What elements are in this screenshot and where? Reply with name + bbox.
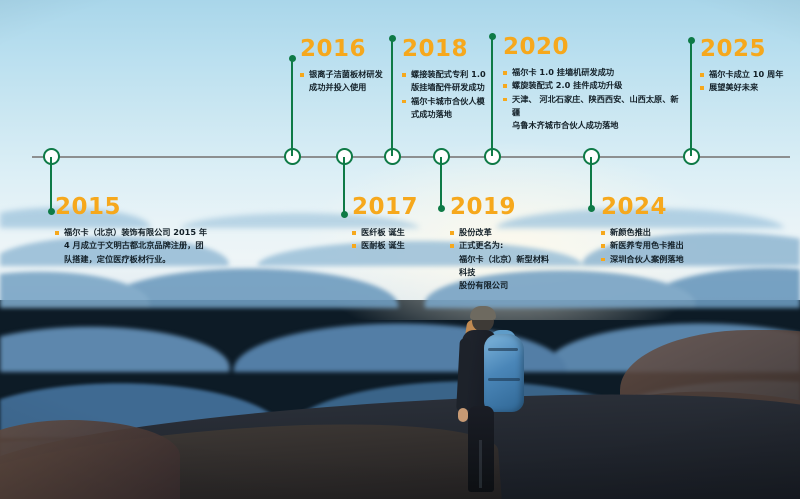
timeline-stem-2025 [690, 40, 692, 156]
timeline-stem-cap-2017 [341, 211, 348, 218]
milestone-bullet: 福尔卡城市合伙人模 [402, 95, 497, 108]
milestone-bullet: 乌鲁木齐城市合伙人成功落地 [503, 119, 683, 132]
timeline-stem-cap-2016 [289, 55, 296, 62]
milestone-bullet: 深圳合伙人案例落地 [601, 253, 711, 266]
timeline-stem-2017 [343, 157, 345, 215]
timeline-stem-2015 [50, 157, 52, 212]
milestone-bullet: 股份有限公司 [450, 279, 555, 292]
milestone-bullet: 天津、 河北石家庄、陕西西安、山西太原、新疆 [503, 93, 683, 120]
milestone-bullet: 螺旋装配式 2.0 挂件成功升级 [503, 79, 683, 92]
milestone-year-2016: 2016 [300, 38, 395, 61]
milestone-bullets-2024: 新颜色推出新医养专用色卡推出深圳合伙人案例落地 [601, 226, 711, 266]
milestone-bullets-2017: 医纤板 诞生医耐板 诞生 [352, 226, 442, 253]
milestone-year-2024: 2024 [601, 196, 711, 219]
timeline-stem-cap-2015 [48, 208, 55, 215]
milestone-bullet: 4 月成立于文明古都北京品牌注册，团 [55, 239, 230, 252]
milestone-2024[interactable]: 2024新颜色推出新医养专用色卡推出深圳合伙人案例落地 [601, 196, 711, 266]
milestone-bullets-2019: 股份改革正式更名为:福尔卡（北京）新型材料科技股份有限公司 [450, 226, 555, 292]
timeline-stem-2024 [590, 157, 592, 209]
milestone-bullet: 版挂墙配件研发成功 [402, 81, 497, 94]
milestone-bullet: 新医养专用色卡推出 [601, 239, 711, 252]
milestone-2016[interactable]: 2016银离子洁菌板材研发成功并投入使用 [300, 38, 395, 95]
milestone-bullet: 福尔卡（北京）装饰有限公司 2015 年 [55, 226, 230, 239]
milestone-bullets-2025: 福尔卡成立 10 周年展望美好未来 [700, 68, 800, 95]
milestone-bullet: 福尔卡（北京）新型材料科技 [450, 253, 555, 280]
milestone-bullet: 福尔卡 1.0 挂墙机研发成功 [503, 66, 683, 79]
milestone-year-2020: 2020 [503, 36, 683, 59]
milestone-bullets-2018: 螺接装配式专利 1.0版挂墙配件研发成功福尔卡城市合伙人模式成功落地 [402, 68, 497, 121]
milestone-bullet: 医耐板 诞生 [352, 239, 442, 252]
milestone-2015[interactable]: 2015福尔卡（北京）装饰有限公司 2015 年4 月成立于文明古都北京品牌注册… [55, 196, 230, 266]
milestone-bullet: 医纤板 诞生 [352, 226, 442, 239]
milestone-bullet: 式成功落地 [402, 108, 497, 121]
milestone-bullets-2016: 银离子洁菌板材研发成功并投入使用 [300, 68, 395, 95]
milestone-year-2017: 2017 [352, 196, 442, 219]
milestone-bullet: 成功并投入使用 [300, 81, 395, 94]
timeline-stem-cap-2025 [688, 37, 695, 44]
milestone-year-2025: 2025 [700, 38, 800, 61]
milestone-bullet: 正式更名为: [450, 239, 555, 252]
timeline-overlay: 2015福尔卡（北京）装饰有限公司 2015 年4 月成立于文明古都北京品牌注册… [0, 0, 800, 499]
milestone-year-2019: 2019 [450, 196, 555, 219]
milestone-bullet: 螺接装配式专利 1.0 [402, 68, 497, 81]
milestone-bullet: 股份改革 [450, 226, 555, 239]
milestone-bullets-2020: 福尔卡 1.0 挂墙机研发成功螺旋装配式 2.0 挂件成功升级天津、 河北石家庄… [503, 66, 683, 132]
milestone-year-2018: 2018 [402, 38, 497, 61]
milestone-bullet: 福尔卡成立 10 周年 [700, 68, 800, 81]
milestone-bullet: 新颜色推出 [601, 226, 711, 239]
milestone-2018[interactable]: 2018螺接装配式专利 1.0版挂墙配件研发成功福尔卡城市合伙人模式成功落地 [402, 38, 497, 121]
timeline-stem-2016 [291, 58, 293, 156]
milestone-year-2015: 2015 [55, 196, 230, 219]
timeline-axis [32, 156, 790, 158]
milestone-2019[interactable]: 2019股份改革正式更名为:福尔卡（北京）新型材料科技股份有限公司 [450, 196, 555, 292]
milestone-2020[interactable]: 2020福尔卡 1.0 挂墙机研发成功螺旋装配式 2.0 挂件成功升级天津、 河… [503, 36, 683, 132]
milestone-2025[interactable]: 2025福尔卡成立 10 周年展望美好未来 [700, 38, 800, 95]
milestone-bullet: 展望美好未来 [700, 81, 800, 94]
milestone-bullet: 银离子洁菌板材研发 [300, 68, 395, 81]
milestone-bullets-2015: 福尔卡（北京）装饰有限公司 2015 年4 月成立于文明古都北京品牌注册，团队搭… [55, 226, 230, 266]
milestone-bullet: 队搭建，定位医疗板材行业。 [55, 253, 230, 266]
milestone-2017[interactable]: 2017医纤板 诞生医耐板 诞生 [352, 196, 442, 253]
timeline-stem-cap-2024 [588, 205, 595, 212]
